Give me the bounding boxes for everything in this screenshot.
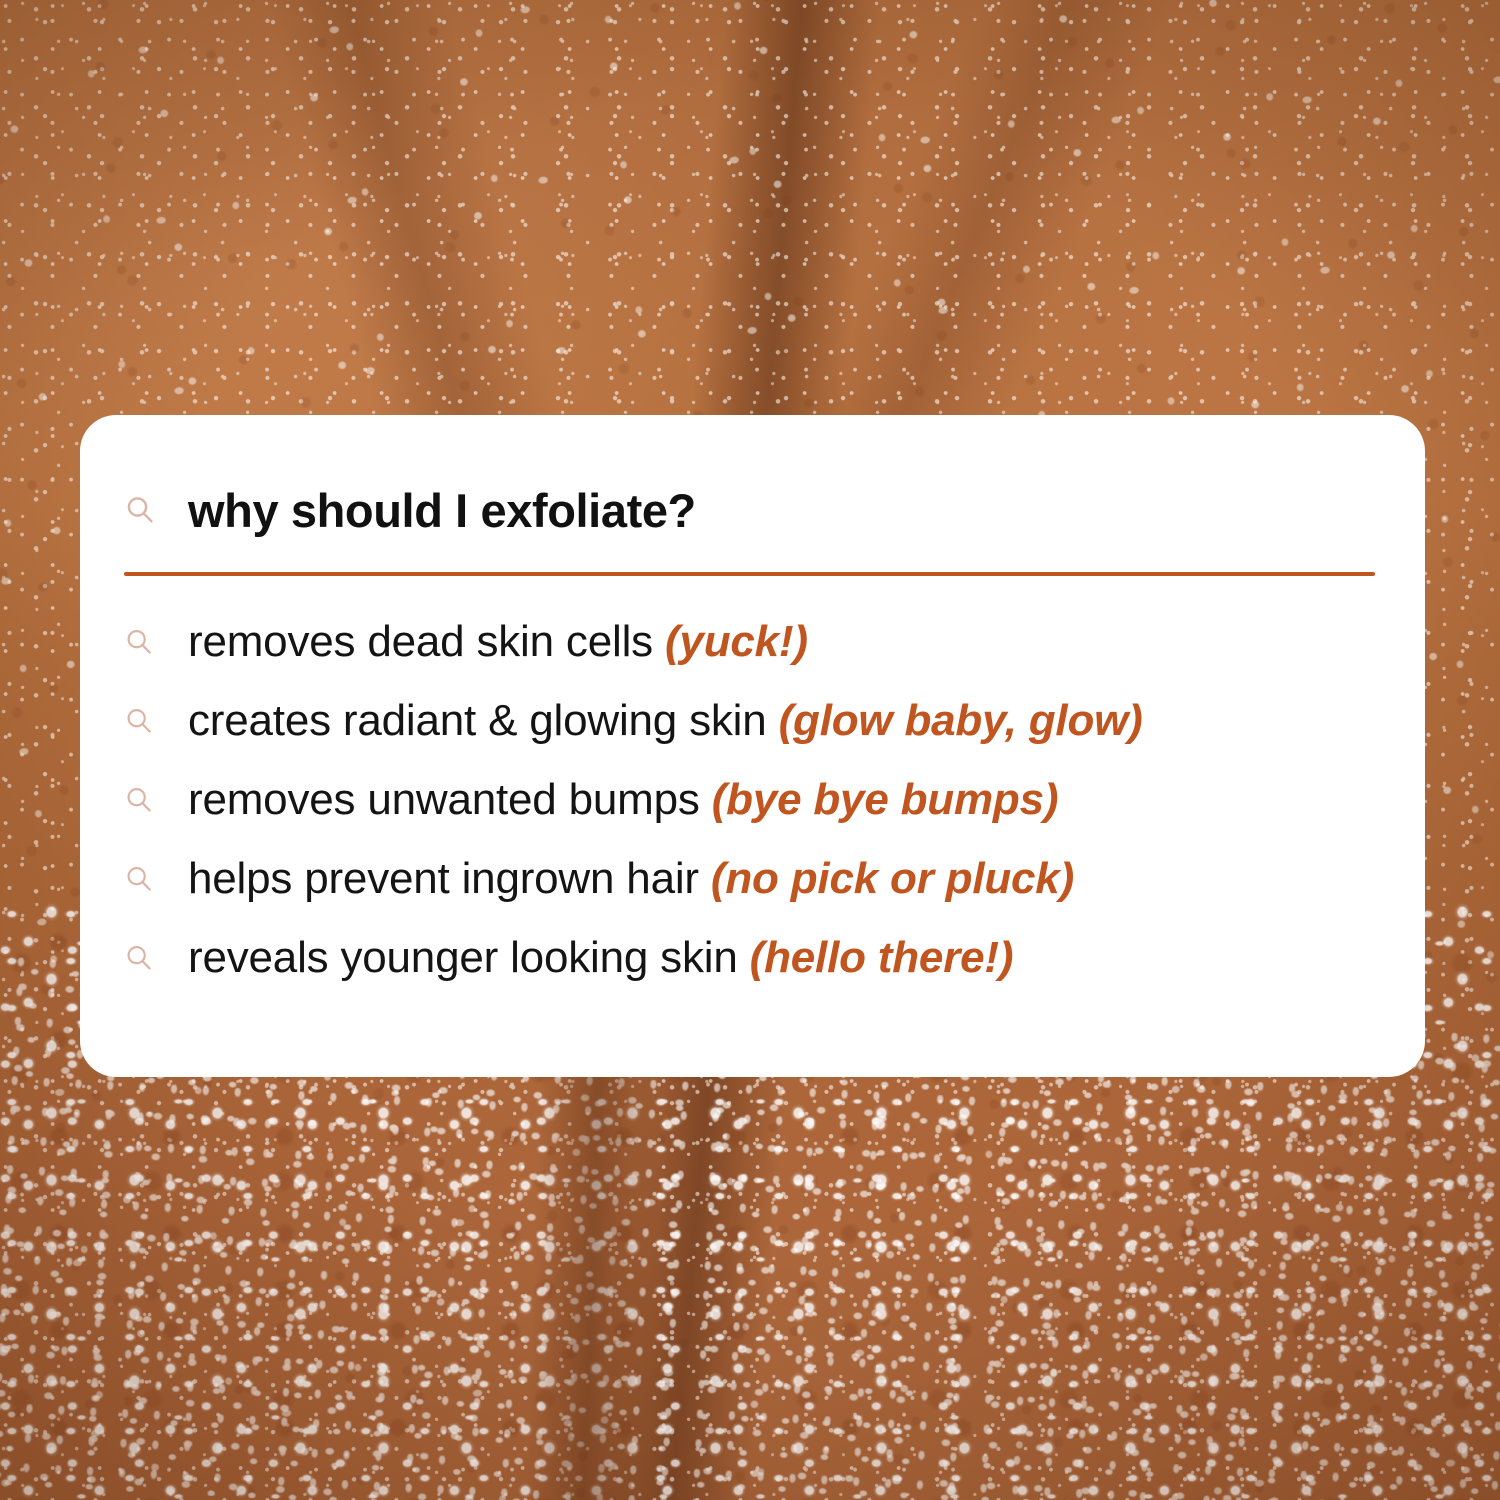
list-item: removes dead skin cells (yuck!): [124, 602, 1375, 681]
list-item-text: removes unwanted bumps (bye bye bumps): [188, 778, 1058, 822]
search-icon: [124, 494, 188, 526]
search-icon: [124, 785, 188, 815]
list-item-text: removes dead skin cells (yuck!): [188, 620, 808, 664]
list-item-label: removes dead skin cells: [188, 617, 653, 666]
list-item: reveals younger looking skin (hello ther…: [124, 918, 1375, 997]
benefits-list: removes dead skin cells (yuck!) creates …: [124, 602, 1375, 997]
list-item: helps prevent ingrown hair (no pick or p…: [124, 839, 1375, 918]
list-item-accent: (bye bye bumps): [712, 775, 1059, 824]
search-icon: [124, 706, 188, 736]
list-item-label: creates radiant & glowing skin: [188, 696, 767, 745]
list-item-text: reveals younger looking skin (hello ther…: [188, 936, 1013, 980]
search-icon: [124, 864, 188, 894]
search-icon: [124, 627, 188, 657]
list-item-accent: (yuck!): [665, 617, 808, 666]
info-card: why should I exfoliate? removes dead ski…: [80, 415, 1425, 1077]
list-item-accent: (hello there!): [750, 933, 1014, 982]
list-item-label: removes unwanted bumps: [188, 775, 700, 824]
list-item-label: helps prevent ingrown hair: [188, 854, 699, 903]
page-title: why should I exfoliate?: [188, 487, 696, 534]
list-item-accent: (glow baby, glow): [779, 696, 1143, 745]
list-item: removes unwanted bumps (bye bye bumps): [124, 760, 1375, 839]
list-item-text: creates radiant & glowing skin (glow bab…: [188, 699, 1143, 743]
search-icon: [124, 943, 188, 973]
list-item-accent: (no pick or pluck): [711, 854, 1074, 903]
list-item-label: reveals younger looking skin: [188, 933, 738, 982]
list-item-text: helps prevent ingrown hair (no pick or p…: [188, 857, 1074, 901]
list-item: creates radiant & glowing skin (glow bab…: [124, 681, 1375, 760]
card-heading: why should I exfoliate?: [124, 481, 1375, 539]
product-infographic: why should I exfoliate? removes dead ski…: [0, 0, 1500, 1500]
info-card-content: why should I exfoliate? removes dead ski…: [124, 481, 1375, 997]
heading-divider: [124, 572, 1375, 576]
